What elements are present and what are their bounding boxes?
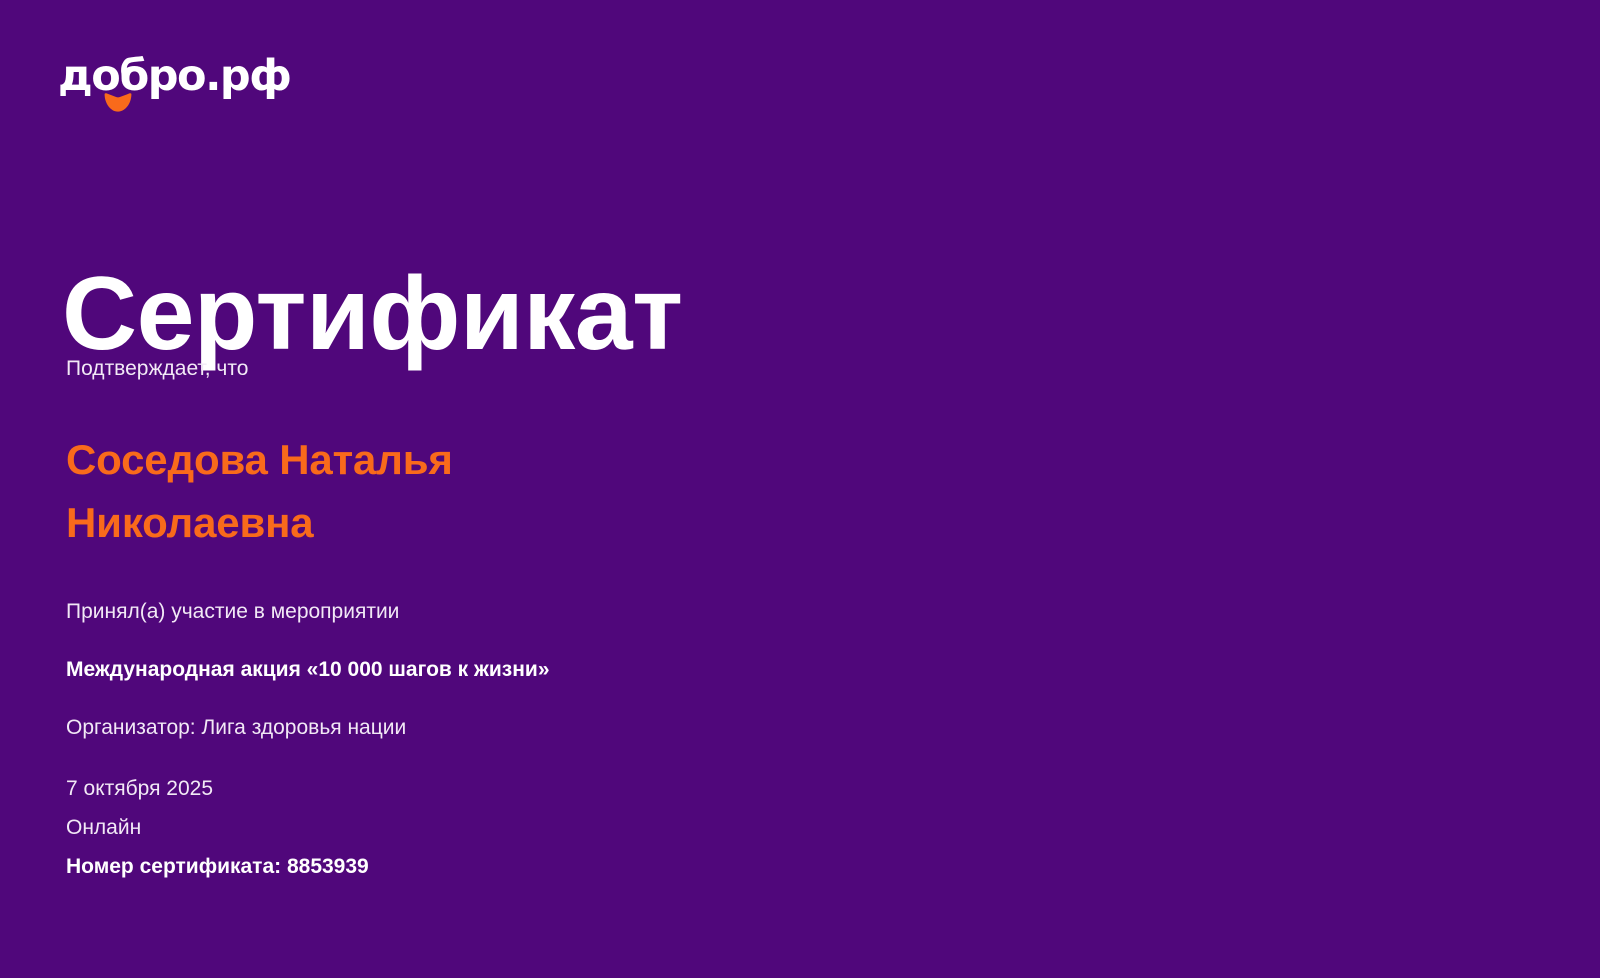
certificate-meta: 7 октября 2025 Онлайн Номер сертификата:… (66, 778, 766, 877)
event-format: Онлайн (66, 817, 766, 838)
issue-date: 7 октября 2025 (66, 778, 766, 799)
brand-logo: добро.рф (58, 55, 298, 117)
heart-icon (103, 93, 133, 112)
participation-text: Принял(а) участие в мероприятии (66, 598, 1166, 626)
recipient-name: Соседова Наталья Николаевна (66, 429, 626, 553)
event-title: Международная акция «10 000 шагов к жизн… (66, 656, 1166, 684)
organizer-text: Организатор: Лига здоровья нации (66, 714, 1166, 742)
certificate-page: добро.рф Сертификат Подтверждает, что Со… (0, 0, 1600, 978)
certificate-number: Номер сертификата: 8853939 (66, 856, 766, 877)
brand-logo-text: добро.рф (58, 55, 298, 98)
lead-text: Подтверждает, что (66, 355, 1166, 383)
certificate-body: Подтверждает, что Соседова Наталья Никол… (66, 355, 1166, 743)
page-title: Сертификат (62, 262, 683, 366)
